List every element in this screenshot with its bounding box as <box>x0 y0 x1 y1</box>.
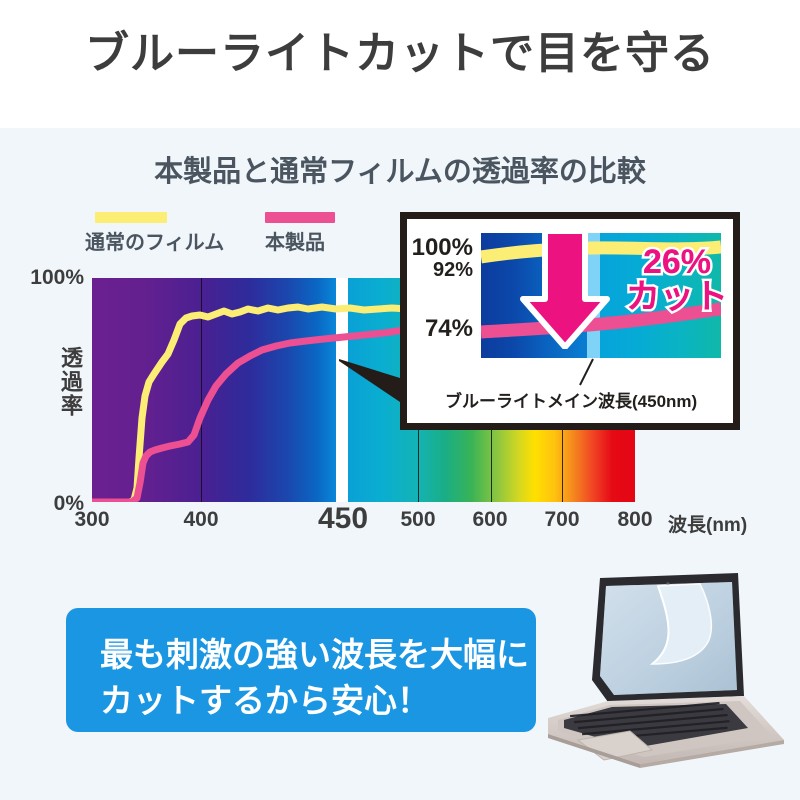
x-tick-300: 300 <box>62 508 122 532</box>
bottom-banner: 最も刺激の強い波長を大幅に カットするから安心！ <box>66 608 536 732</box>
laptop-base <box>548 696 784 768</box>
x-axis-label: 波長(nm) <box>668 510 747 537</box>
cut-badge: 26% カット <box>617 245 737 314</box>
y-axis-label: 透過率 <box>54 346 86 418</box>
chart-card: 本製品と通常フィルムの透過率の比較 通常のフィルム 本製品 100% 0% 透過… <box>28 140 772 560</box>
inset-label-100: 100% <box>343 234 473 262</box>
banner-line-1: 最も刺激の強い波長を大幅に <box>100 632 530 678</box>
y-tick-100: 100% <box>26 266 84 290</box>
cut-arrow-icon <box>519 233 611 349</box>
inset-callout: 100% 92% 74% 26% カット 26% カット ブルーライトメイン波長… <box>400 212 740 430</box>
x-tick-800: 800 <box>605 508 665 532</box>
inset-label-74: 74% <box>345 315 473 343</box>
screen-protector-film <box>600 582 737 695</box>
inset-label-92: 92% <box>351 259 473 282</box>
page-title: ブルーライトカットで目を守る <box>0 26 800 81</box>
x-tick-700: 700 <box>532 508 592 532</box>
banner-line-2: カットするから安心！ <box>100 678 530 724</box>
inset-caption: ブルーライトメイン波長(450nm) <box>445 387 735 412</box>
cut-badge-word: カット <box>617 280 737 315</box>
x-tick-450: 450 <box>303 502 383 536</box>
x-tick-600: 600 <box>460 508 520 532</box>
x-tick-400: 400 <box>171 508 231 532</box>
page-root: ブルーライトカットで目を守る 本製品と通常フィルムの透過率の比較 通常のフィルム… <box>0 0 800 800</box>
cut-badge-percent: 26% <box>617 245 737 280</box>
x-tick-500: 500 <box>388 508 448 532</box>
laptop-illustration <box>548 568 796 780</box>
bottom-banner-text: 最も刺激の強い波長を大幅に カットするから安心！ <box>100 632 530 723</box>
